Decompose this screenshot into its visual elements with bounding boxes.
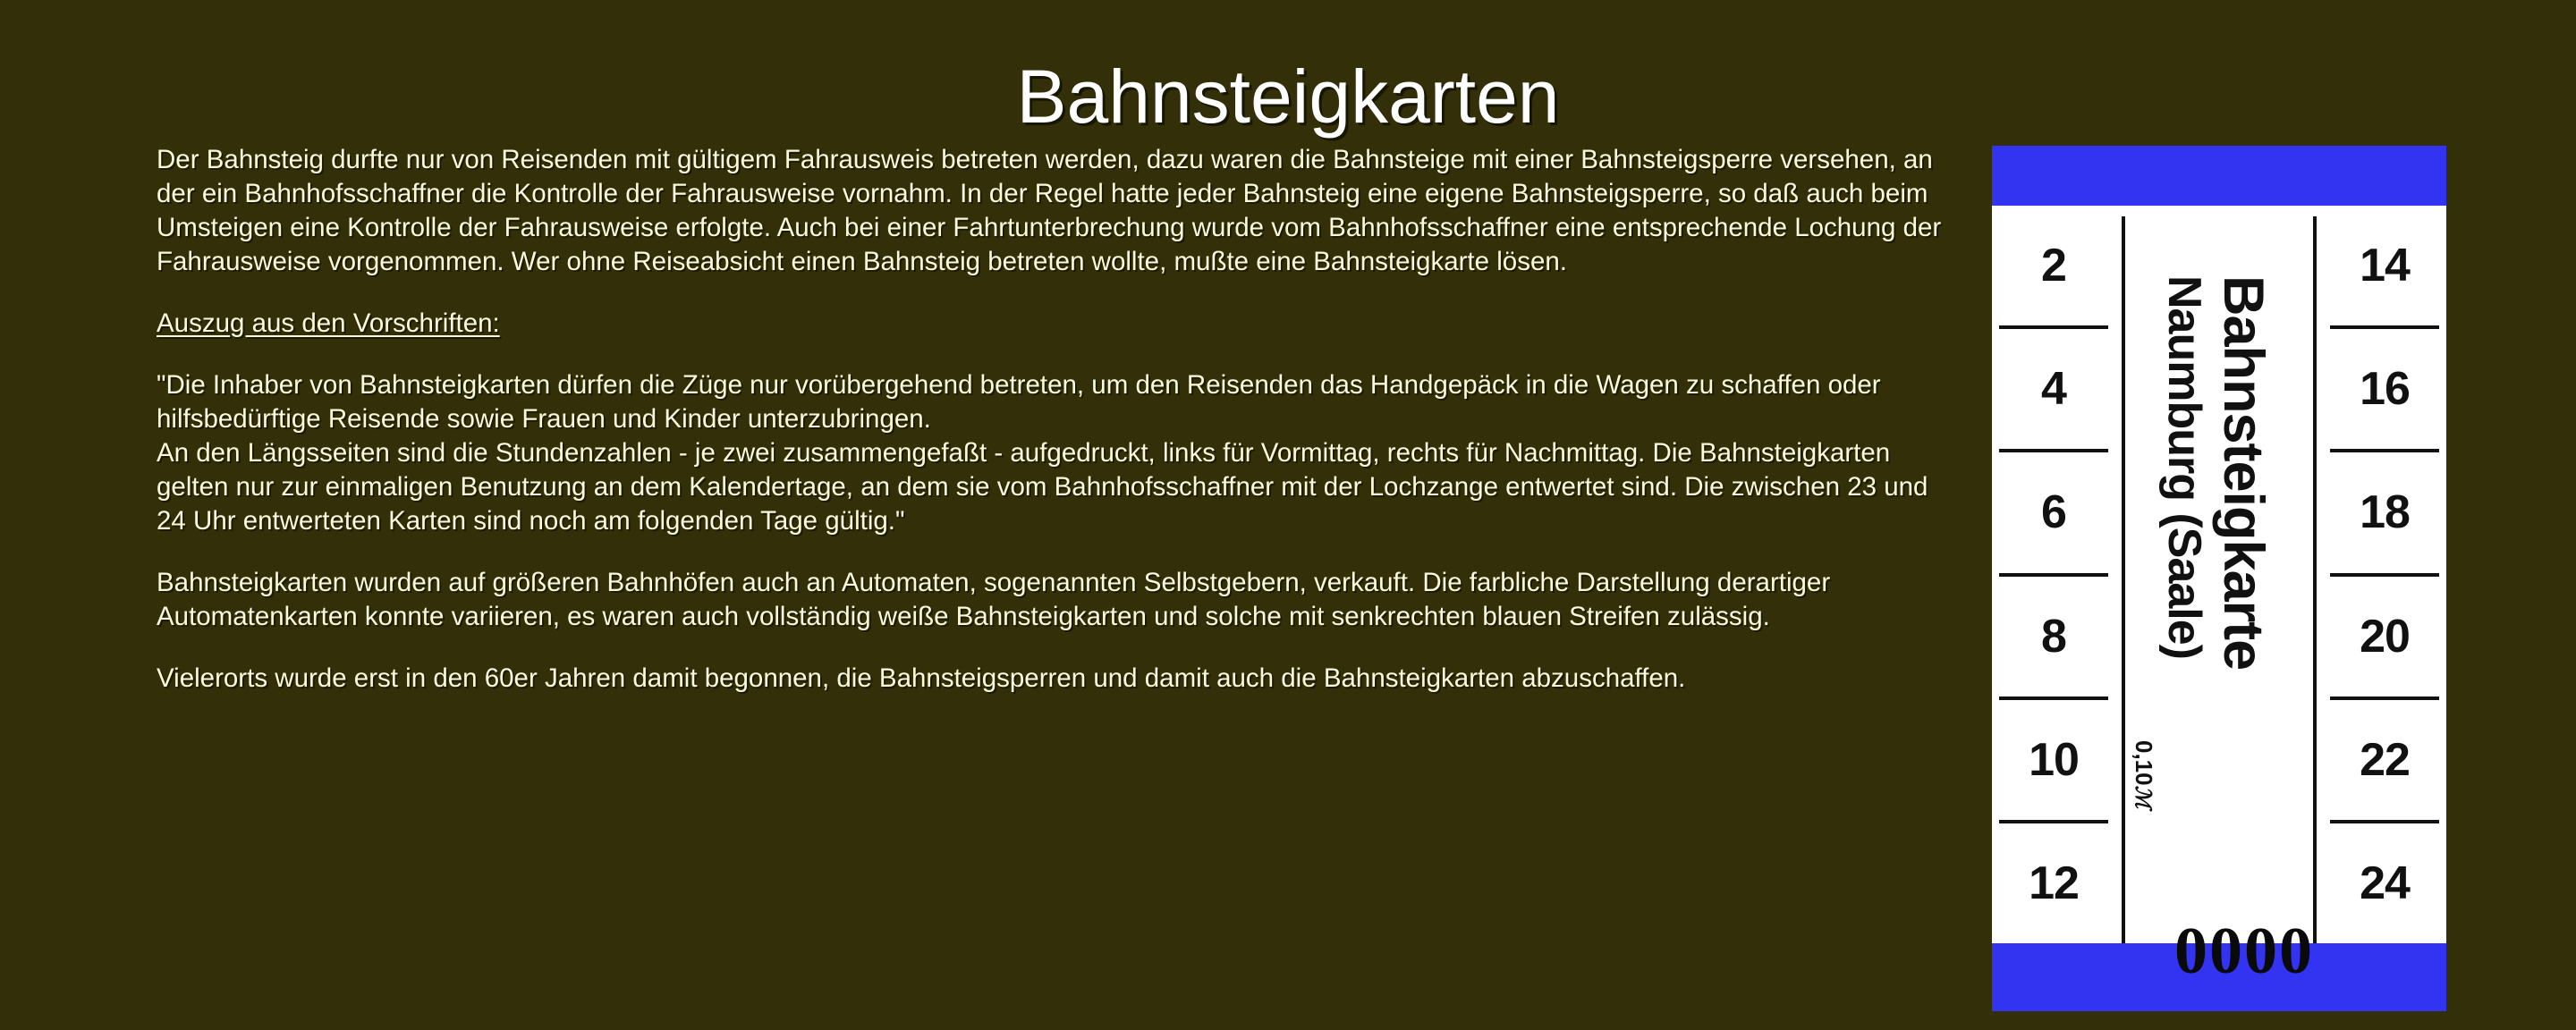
hour-cell: 2 [1999, 206, 2108, 329]
ticket-vertical-divider-right [2313, 216, 2317, 945]
hour-cell: 20 [2330, 577, 2439, 700]
hour-cell: 4 [1999, 329, 2108, 452]
ticket-hours-right-column: 14 16 18 20 22 24 [2330, 206, 2439, 943]
paragraph-60er: Vielerorts wurde erst in den 60er Jahren… [157, 662, 1954, 696]
section-heading-vorschriften: Auszug aus den Vorschriften: [157, 307, 500, 341]
page-title: Bahnsteigkarten [0, 46, 2576, 147]
ticket-hours-left-column: 2 4 6 8 10 12 [1999, 206, 2108, 943]
ticket-paper-body: 2 4 6 8 10 12 Bahnsteigkarte Naumburg (S… [1992, 206, 2446, 943]
hour-cell: 14 [2330, 206, 2439, 329]
paragraph-quote: "Die Inhaber von Bahnsteigkarten dürfen … [157, 368, 1954, 538]
ticket-top-blue-band [1992, 146, 2446, 206]
hour-cell: 6 [1999, 452, 2108, 576]
quote-line-1: "Die Inhaber von Bahnsteigkarten dürfen … [157, 370, 1881, 434]
page-root: Bahnsteigkarten Der Bahnsteig durfte nur… [0, 0, 2576, 1030]
paragraph-intro: Der Bahnsteig durfte nur von Reisenden m… [157, 143, 1954, 279]
bahnsteigkarte-ticket-image: 2 4 6 8 10 12 Bahnsteigkarte Naumburg (S… [1992, 146, 2446, 1011]
ticket-station-vertical: Naumburg (Saale) [2157, 275, 2211, 659]
hour-cell: 10 [1999, 700, 2108, 823]
hour-cell: 18 [2330, 452, 2439, 576]
ticket-price-vertical: 0,10ℳ [2130, 740, 2157, 808]
ticket-currency-symbol: ℳ [2131, 786, 2154, 809]
hour-cell: 8 [1999, 577, 2108, 700]
ticket-serial-number: 0000 [1992, 918, 2446, 984]
section-heading-wrap: Auszug aus den Vorschriften: [157, 307, 1954, 341]
ticket-title-vertical: Bahnsteigkarte [2211, 275, 2275, 670]
article-body: Der Bahnsteig durfte nur von Reisenden m… [157, 143, 1954, 696]
ticket-price-value: 0,10 [2131, 740, 2157, 786]
hour-cell: 22 [2330, 700, 2439, 823]
paragraph-automaten: Bahnsteigkarten wurden auf größeren Bahn… [157, 566, 1954, 634]
hour-cell: 16 [2330, 329, 2439, 452]
quote-line-2: An den Längsseiten sind die Stundenzahle… [157, 438, 1928, 536]
ticket-center-panel: Bahnsteigkarte Naumburg (Saale) 0,10ℳ [2125, 206, 2313, 943]
